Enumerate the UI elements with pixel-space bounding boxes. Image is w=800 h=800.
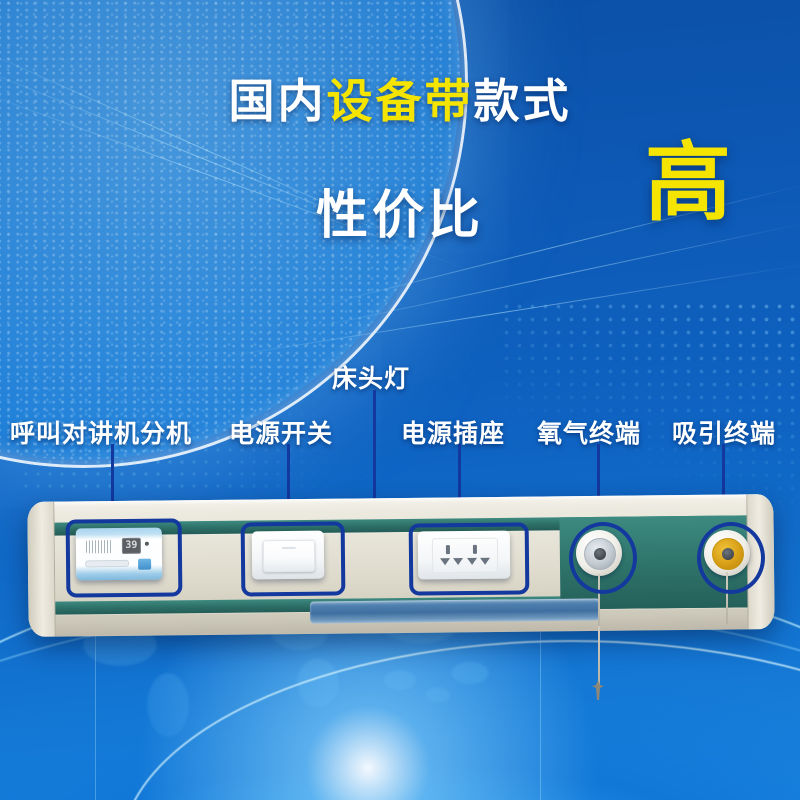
headline-block: 国内设备带款式 性价比	[0, 78, 800, 124]
headline-part-1: 国内	[229, 74, 327, 128]
oxygen-hook-cord	[598, 626, 600, 686]
callout-label-oxygen-terminal: 氧气终端	[537, 414, 641, 450]
highlight-box-oxygen-terminal	[569, 522, 637, 594]
halftone-dots-right	[500, 300, 800, 510]
callout-label-power-switch: 电源开关	[229, 414, 333, 450]
halftone-dots-left	[20, 300, 350, 490]
highlight-box-suction-terminal	[697, 522, 765, 594]
panel-end-cap-left	[27, 502, 55, 637]
callout-label-power-socket: 电源插座	[401, 414, 505, 450]
highlight-box-intercom	[66, 518, 183, 597]
headline-accent-word: 高	[645, 140, 731, 226]
headline-line-2: 性价比	[316, 173, 484, 248]
highlight-box-power-socket	[409, 522, 530, 595]
bed-lamp-diffuser[interactable]	[310, 598, 600, 623]
headline-part-3: 款式	[474, 74, 572, 128]
poster-canvas: 国内设备带款式 性价比 高 呼叫对讲机分机 床头灯 电源开关 电源插座 氧气终端…	[0, 0, 800, 800]
callout-label-nurse-call-intercom: 呼叫对讲机分机	[10, 414, 192, 450]
highlight-box-power-switch	[241, 521, 346, 596]
headline-line-1: 国内设备带款式	[0, 78, 800, 124]
callout-label-bed-lamp: 床头灯	[332, 359, 410, 395]
headline-part-2: 设备带	[327, 74, 474, 128]
oxygen-hanger-hook-icon	[591, 680, 605, 702]
